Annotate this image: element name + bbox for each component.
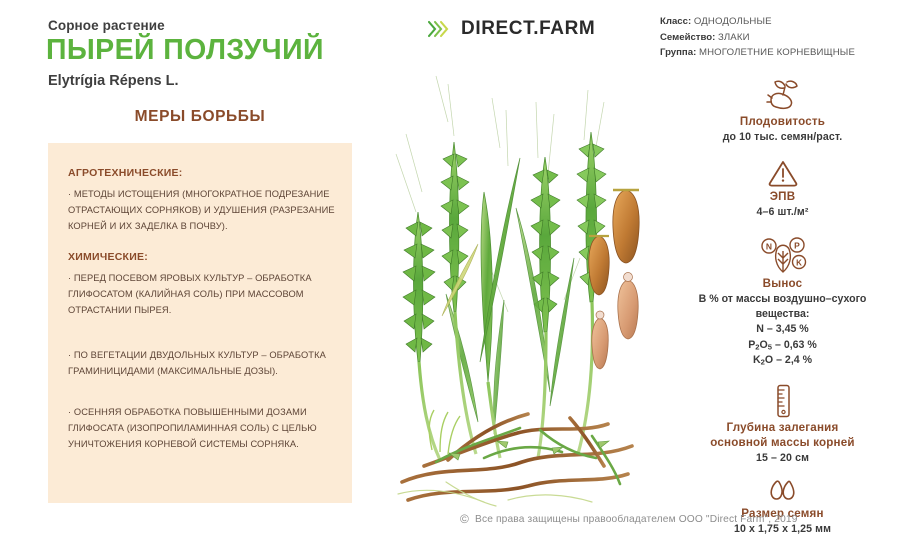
measures-group-chemical: ХИМИЧЕСКИЕ: · ПЕРЕД ПОСЕВОМ ЯРОВЫХ КУЛЬТ… xyxy=(68,251,338,319)
fact-fecundity: Плодовитость до 10 тыс. семян/раст. xyxy=(655,78,910,145)
uptake-row-k2o: K2O – 2,4 % xyxy=(655,353,910,368)
uptake-dash: – xyxy=(775,339,784,351)
uptake-row-n: N – 3,45 % xyxy=(655,322,910,337)
taxonomy-key: Класс: xyxy=(660,16,691,27)
measures-group-text: · ПО ВЕГЕТАЦИИ ДВУДОЛЬНЫХ КУЛЬТУР – ОБРА… xyxy=(68,348,338,380)
uptake-dash: – xyxy=(767,323,776,335)
svg-text:P: P xyxy=(794,240,800,250)
chevron-wave-icon xyxy=(428,20,450,38)
taxonomy-key: Семейство: xyxy=(660,32,715,43)
plant-latin-name: Elytrígia Répens L. xyxy=(48,73,179,89)
svg-text:K: K xyxy=(796,258,802,267)
taxonomy-row-class: Класс: ОДНОДОЛЬНЫЕ xyxy=(660,14,910,30)
uptake-value: 0,63 % xyxy=(784,339,817,351)
measures-heading: МЕРЫ БОРЬБЫ xyxy=(48,108,352,126)
plant-illustration xyxy=(388,62,650,510)
fact-title-line1: Глубина залегания xyxy=(655,421,910,436)
taxonomy-block: Класс: ОДНОДОЛЬНЫЕ Семейство: ЗЛАКИ Груп… xyxy=(660,14,910,61)
fact-value: 4–6 шт./м² xyxy=(655,205,910,220)
uptake-row-p2o5: P2O5 – 0,63 % xyxy=(655,338,910,353)
taxonomy-row-family: Семейство: ЗЛАКИ xyxy=(660,30,910,46)
brand-logo[interactable]: DIRECT.FARM xyxy=(428,18,595,40)
taxonomy-value: МНОГОЛЕТНИЕ КОРНЕВИЩНЫЕ xyxy=(699,47,855,58)
uptake-label: N xyxy=(756,323,764,335)
fact-seed-size: Размер семян 10 x 1,75 x 1,25 мм xyxy=(655,480,910,537)
measures-group-autumn: · ОСЕННЯЯ ОБРАБОТКА ПОВЫШЕННЫМИ ДОЗАМИ Г… xyxy=(68,405,338,453)
fact-title-line2: основной массы корней xyxy=(655,436,910,451)
fact-value: до 10 тыс. семян/раст. xyxy=(655,130,910,145)
measures-panel: АГРОТЕХНИЧЕСКИЕ: · МЕТОДЫ ИСТОЩЕНИЯ (МНО… xyxy=(48,143,352,503)
taxonomy-row-group: Группа: МНОГОЛЕТНИЕ КОРНЕВИЩНЫЕ xyxy=(660,45,910,61)
measures-group-text: · МЕТОДЫ ИСТОЩЕНИЯ (МНОГОКРАТНОЕ ПОДРЕЗА… xyxy=(68,187,338,235)
taxonomy-value: ОДНОДОЛЬНЫЕ xyxy=(694,16,772,27)
facts-column: Плодовитость до 10 тыс. семян/раст. ЭПВ … xyxy=(655,78,910,539)
copyright-text: Все права защищены правообладателем ООО … xyxy=(475,514,798,525)
fact-subtitle-line1: В % от массы воздушно–сухого xyxy=(655,292,910,307)
fact-title: Плодовитость xyxy=(655,115,910,130)
spikelets-group xyxy=(403,132,606,362)
measures-group-title: АГРОТЕХНИЧЕСКИЕ: xyxy=(68,167,338,179)
svg-text:N: N xyxy=(765,241,771,251)
uptake-label: K2O xyxy=(753,354,773,366)
left-column: Сорное растение ПЫРЕЙ ПОЛЗУЧИЙ Elytrígia… xyxy=(0,0,385,545)
plant-illustration-svg xyxy=(388,62,650,510)
fact-title: Вынос xyxy=(655,277,910,292)
plant-kicker: Сорное растение xyxy=(48,18,165,33)
uptake-value: 2,4 % xyxy=(785,354,812,366)
brand-name: DIRECT.FARM xyxy=(461,18,595,40)
two-seeds-icon xyxy=(766,480,800,504)
uptake-label: P2O5 xyxy=(748,339,772,351)
fact-root-depth: Глубина залегания основной массы корней … xyxy=(655,384,910,466)
measures-group-agrotechnical: АГРОТЕХНИЧЕСКИЕ: · МЕТОДЫ ИСТОЩЕНИЯ (МНО… xyxy=(68,167,338,235)
infographic-page: Сорное растение ПЫРЕЙ ПОЛЗУЧИЙ Elytrígia… xyxy=(0,0,910,545)
fact-subtitle-line2: вещества: xyxy=(655,307,910,322)
copyright-icon: © xyxy=(460,512,469,526)
measures-group-text: · ОСЕННЯЯ ОБРАБОТКА ПОВЫШЕННЫМИ ДОЗАМИ Г… xyxy=(68,405,338,453)
fact-value: 15 – 20 см xyxy=(655,451,910,466)
warning-triangle-icon xyxy=(767,159,799,187)
uptake-value: 3,45 % xyxy=(776,323,809,335)
npk-leaf-icon: N P K xyxy=(759,236,807,274)
fact-etp: ЭПВ 4–6 шт./м² xyxy=(655,159,910,220)
measures-group-text: · ПЕРЕД ПОСЕВОМ ЯРОВЫХ КУЛЬТУР – ОБРАБОТ… xyxy=(68,271,338,319)
taxonomy-value: ЗЛАКИ xyxy=(718,32,750,43)
taxonomy-key: Группа: xyxy=(660,47,696,58)
footer-copyright: © Все права защищены правообладателем ОО… xyxy=(460,512,798,526)
rhizomes-group xyxy=(398,414,632,506)
ruler-icon xyxy=(772,384,794,418)
uptake-dash: – xyxy=(776,354,785,366)
measures-group-title: ХИМИЧЕСКИЕ: xyxy=(68,251,338,263)
page-title: ПЫРЕЙ ПОЛЗУЧИЙ xyxy=(46,34,324,67)
measures-group-vegetation: · ПО ВЕГЕТАЦИИ ДВУДОЛЬНЫХ КУЛЬТУР – ОБРА… xyxy=(68,348,338,380)
seed-sprout-icon xyxy=(763,78,803,112)
fact-uptake: N P K Вынос В % от массы воздушно–сухого… xyxy=(655,236,910,369)
fact-title: ЭПВ xyxy=(655,190,910,205)
